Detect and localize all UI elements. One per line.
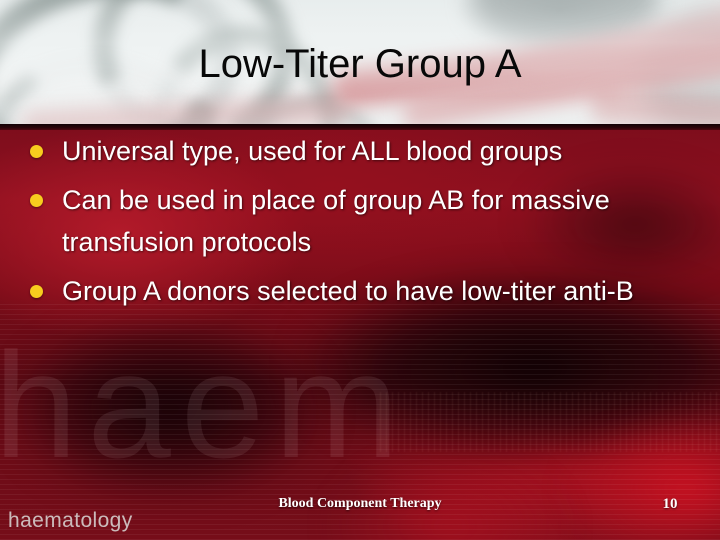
list-item-label: Group A donors selected to have low-tite… <box>62 270 696 312</box>
list-item-label: Universal type, used for ALL blood group… <box>62 130 696 172</box>
background-dark-smudge <box>20 324 320 494</box>
slide-body: haem Universal type, used for ALL blood … <box>0 124 720 540</box>
bullet-dot-icon <box>30 145 43 158</box>
bullet-dot-icon <box>30 285 43 298</box>
bullet-dot-icon <box>30 194 43 207</box>
list-item: Group A donors selected to have low-tite… <box>30 270 696 312</box>
bullet-list: Universal type, used for ALL blood group… <box>30 130 696 319</box>
list-item-label: Can be used in place of group AB for mas… <box>62 179 696 263</box>
brand-label: haematology <box>8 508 133 534</box>
slide-title: Low-Titer Group A <box>0 40 720 88</box>
list-item: Universal type, used for ALL blood group… <box>30 130 696 172</box>
slide-number: 10 <box>630 494 710 514</box>
background-red-highlight <box>560 414 720 540</box>
list-item: Can be used in place of group AB for mas… <box>30 179 696 263</box>
slide-header-band: Low-Titer Group A <box>0 0 720 124</box>
presentation-slide: Low-Titer Group A haem Universal type, u… <box>0 0 720 540</box>
